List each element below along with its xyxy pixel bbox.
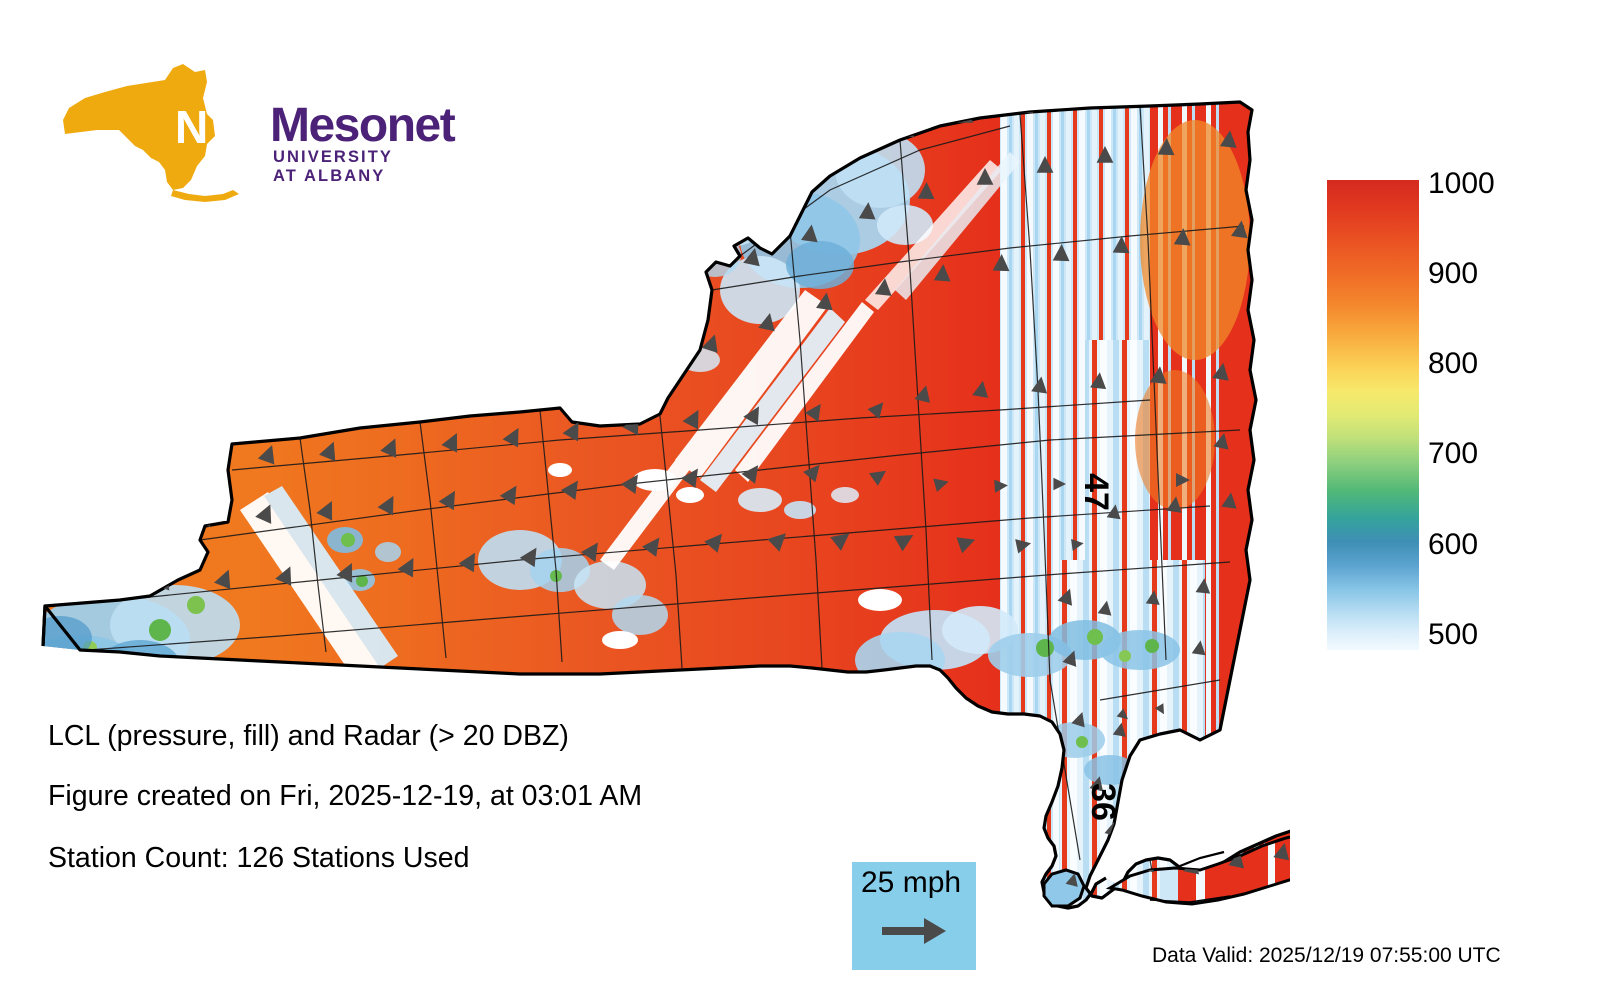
wind-speed-legend: 25 mph [852,862,976,970]
colorbar-tick-900: 900 [1428,257,1478,291]
colorbar-tick-500: 500 [1428,618,1478,652]
colorbar-tick-700: 700 [1428,437,1478,471]
colorbar-tick-1000: 1000 [1428,167,1495,201]
colorbar-gradient [1327,180,1419,650]
wind-legend-label: 25 mph [861,866,961,900]
new-york-state-map: 47 36 [0,40,1290,970]
map-annotation-47: 47 [1077,473,1115,511]
weather-map-figure: NYS Mesonet UNIVERSITY AT ALBANY [0,0,1600,1000]
data-valid-timestamp: Data Valid: 2025/12/19 07:55:00 UTC [1152,944,1501,968]
figure-created-timestamp: Figure created on Fri, 2025-12-19, at 03… [48,780,642,813]
map-annotation-36-text: 36 [1084,783,1122,821]
wind-legend-arrow-icon [880,914,950,948]
figure-subtitle: LCL (pressure, fill) and Radar (> 20 DBZ… [48,720,569,753]
map-annotation-36: 36 [1084,783,1122,821]
colorbar-tick-600: 600 [1428,528,1478,562]
station-count-label: Station Count: 126 Stations Used [48,842,469,875]
colorbar-tick-800: 800 [1428,347,1478,381]
lcl-colorbar [1327,180,1419,650]
map-annotation-47-text: 47 [1077,473,1115,511]
